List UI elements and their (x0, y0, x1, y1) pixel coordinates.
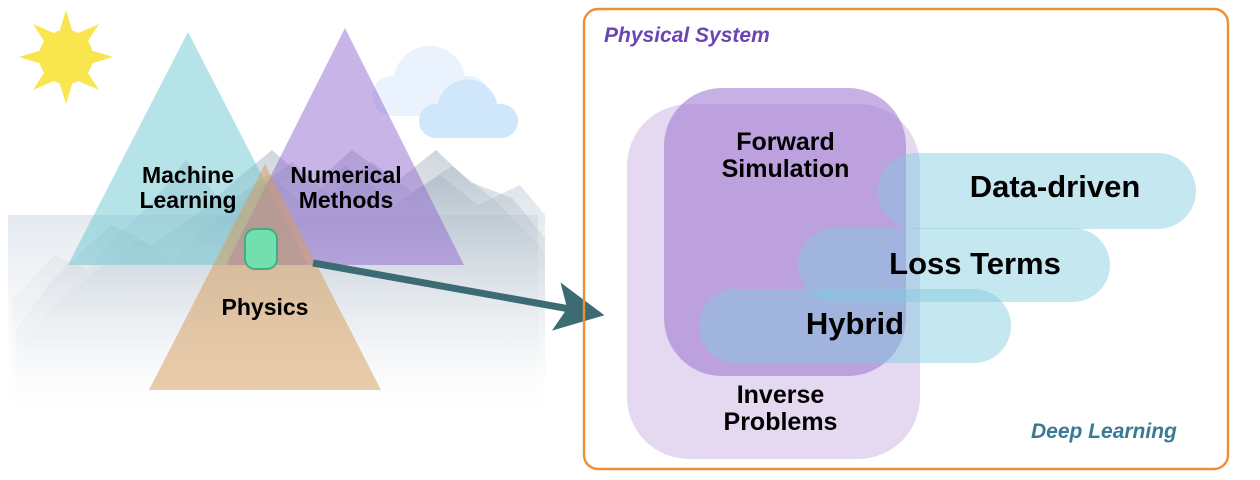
label-forward-simulation: Forward Simulation (693, 129, 878, 183)
label-data-driven: Data-driven (930, 170, 1180, 203)
right-panel-graphics (0, 0, 1260, 480)
figure-canvas: Machine Learning Numerical Methods Physi… (0, 0, 1260, 480)
label-hybrid: Hybrid (755, 307, 955, 340)
panel-bottom-label: Deep Learning (1031, 420, 1177, 444)
label-inverse-problems: Inverse Problems (688, 382, 873, 436)
panel-top-label: Physical System (604, 24, 770, 48)
label-loss-terms: Loss Terms (850, 247, 1100, 280)
